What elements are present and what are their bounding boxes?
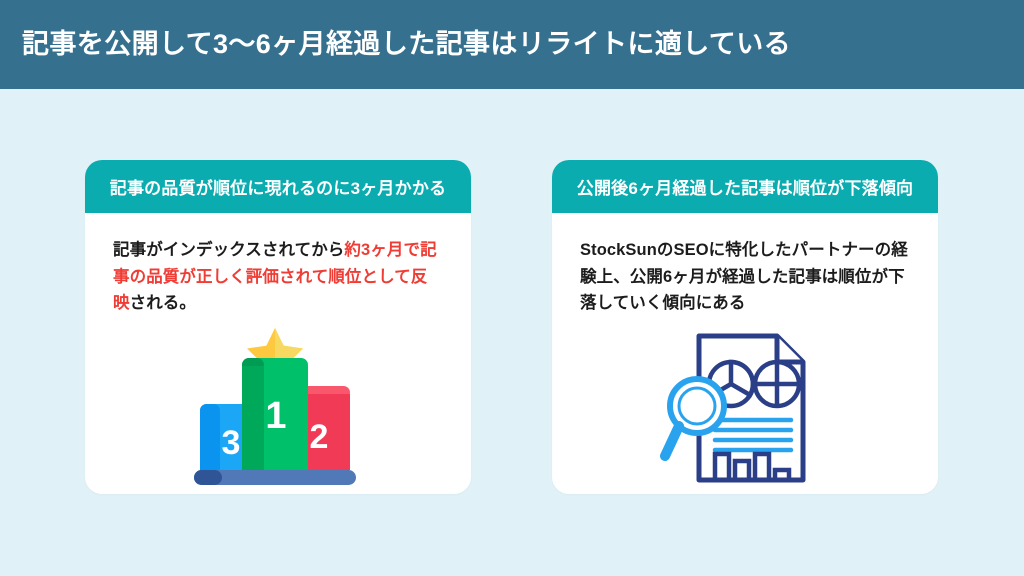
svg-text:1: 1 [265,395,286,437]
card-body-right: StockSunのSEOに特化したパートナーの経験上、公開6ヶ月が経過した記事は… [552,213,938,494]
document-analysis-illustration [552,317,938,494]
card-title-right: 公開後6ヶ月経過した記事は順位が下落傾向 [577,174,913,199]
slide-root: 記事を公開して3〜6ヶ月経過した記事はリライトに適している 記事の品質が順位に現… [0,0,1024,576]
podium-base [194,470,356,485]
card-description-right: StockSunのSEOに特化したパートナーの経験上、公開6ヶ月が経過した記事は… [580,213,910,317]
podium-block-1: 1 [242,358,308,470]
card-ranking-decline: 公開後6ヶ月経過した記事は順位が下落傾向 StockSunのSEOに特化したパー… [552,160,938,494]
svg-text:3: 3 [222,424,241,462]
page-title: 記事を公開して3〜6ヶ月経過した記事はリライトに適している [22,28,791,60]
card-title-left: 記事の品質が順位に現れるのに3ヶ月かかる [110,174,446,199]
text-segment-plain: 記事がインデックスされてから [113,241,344,259]
svg-text:2: 2 [310,418,329,456]
card-ranking-delay: 記事の品質が順位に現れるのに3ヶ月かかる 記事がインデックスされてから約3ヶ月で… [85,160,471,494]
card-container: 記事の品質が順位に現れるのに3ヶ月かかる 記事がインデックスされてから約3ヶ月で… [85,160,938,494]
card-description-left: 記事がインデックスされてから約3ヶ月で記事の品質が正しく評価されて順位として反映… [113,213,443,317]
text-segment-plain-tail: される。 [130,294,196,312]
podium-illustration: 3 2 [85,317,471,494]
card-header-left: 記事の品質が順位に現れるのに3ヶ月かかる [85,160,471,213]
card-header-right: 公開後6ヶ月経過した記事は順位が下落傾向 [552,160,938,213]
slide-header: 記事を公開して3〜6ヶ月経過した記事はリライトに適している [0,0,1024,89]
card-body-left: 記事がインデックスされてから約3ヶ月で記事の品質が正しく評価されて順位として反映… [85,213,471,494]
target-chart-icon [755,362,799,406]
